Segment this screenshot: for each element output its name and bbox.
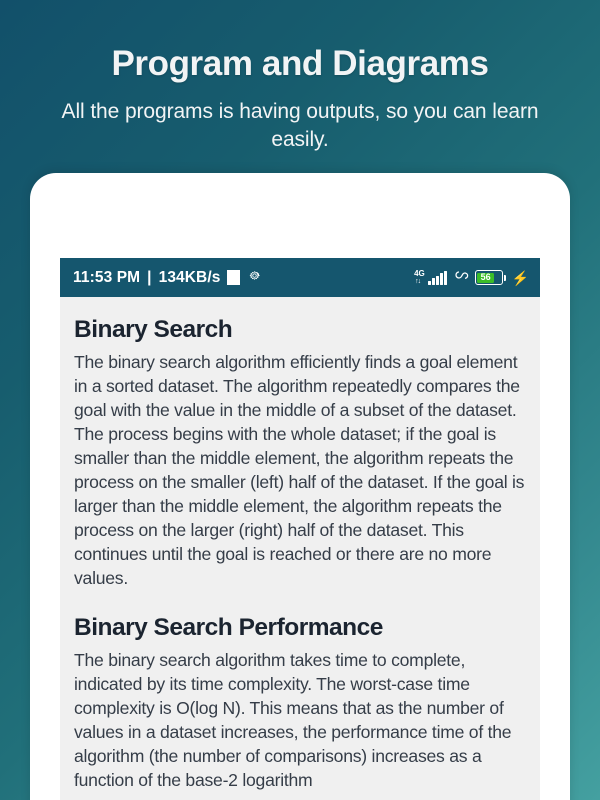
battery-fill: 56: [477, 273, 494, 283]
status-bar-separator: |: [147, 269, 151, 287]
section-body-binary-search-performance: The binary search algorithm takes time t…: [74, 649, 526, 793]
section-divider-spacer: [74, 591, 526, 613]
section-body-binary-search: The binary search algorithm efficiently …: [74, 351, 526, 590]
promo-header: Program and Diagrams All the programs is…: [0, 0, 600, 154]
network-type-label: 4G: [414, 270, 425, 278]
promo-subtitle: All the programs is having outputs, so y…: [28, 98, 572, 153]
phone-mockup-frame: 11:53 PM | 134KB/s 4G ↑↓: [30, 173, 570, 800]
status-bar-right-group: 4G ↑↓ 56: [414, 267, 529, 288]
sync-loop-icon: [453, 267, 469, 288]
status-bar-network-speed: 134KB/s: [159, 269, 221, 287]
battery-icon: 56: [475, 270, 506, 285]
status-bar-time: 11:53 PM: [73, 269, 140, 287]
charging-bolt-icon: ⚡: [512, 271, 529, 285]
status-bar: 11:53 PM | 134KB/s 4G ↑↓: [60, 258, 540, 297]
section-heading-binary-search: Binary Search: [74, 315, 526, 344]
battery-cap: [504, 275, 506, 281]
notification-square-icon: [227, 270, 240, 285]
article-content: Binary Search The binary search algorith…: [60, 297, 540, 793]
status-bar-left-group: 11:53 PM | 134KB/s: [73, 268, 262, 288]
phone-screen: 11:53 PM | 134KB/s 4G ↑↓: [60, 258, 540, 800]
data-transfer-arrows-icon: ↑↓: [415, 278, 420, 285]
battery-body: 56: [475, 270, 503, 285]
signal-bars-icon: 4G ↑↓: [414, 271, 447, 285]
battery-percent-label: 56: [481, 273, 491, 282]
gear-icon: [247, 268, 262, 288]
section-heading-binary-search-performance: Binary Search Performance: [74, 613, 526, 642]
signal-strength-bars: [428, 271, 447, 285]
page-title: Program and Diagrams: [28, 44, 572, 83]
